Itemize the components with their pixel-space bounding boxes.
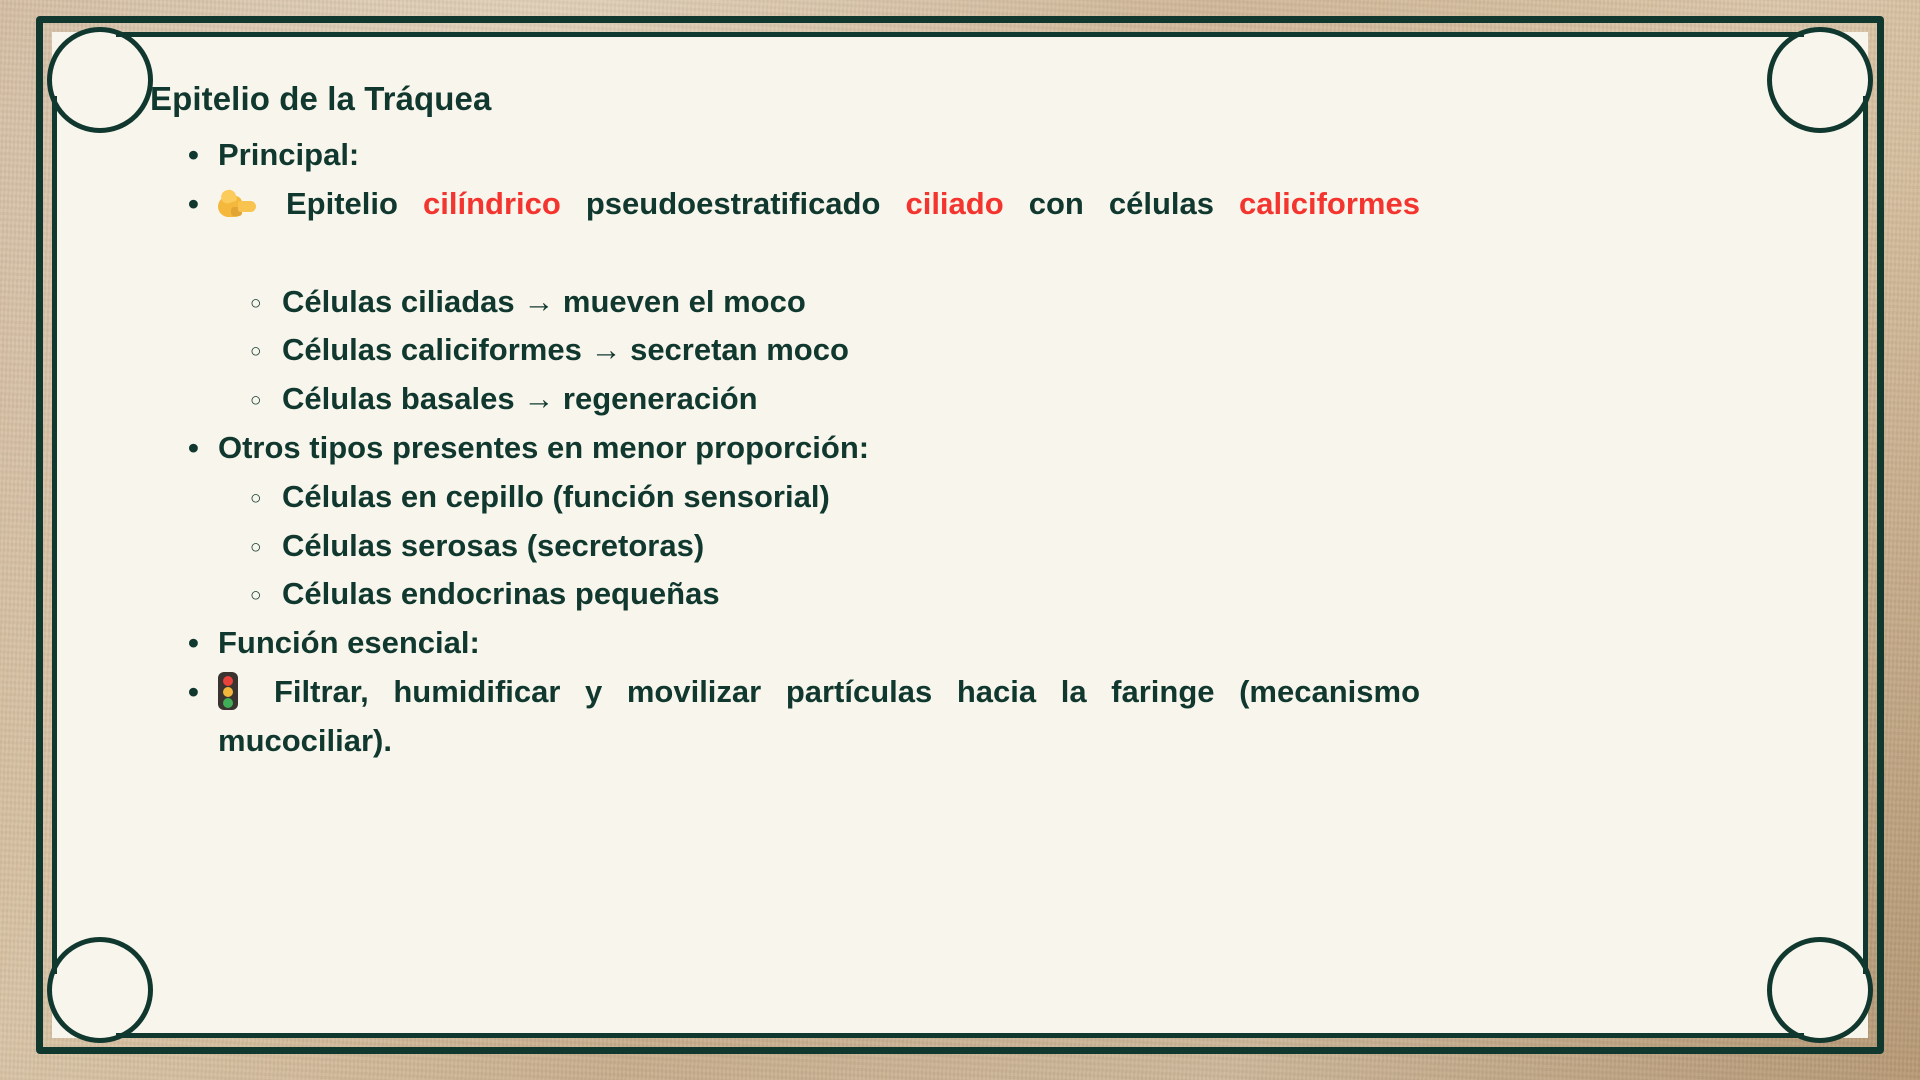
bullet-glyph: • (188, 131, 199, 179)
segment-con-celulas: con células (1004, 186, 1239, 221)
list-item-principal: • Principal: (150, 131, 1420, 179)
list-item-celulas-basales: ○ Células basales → regeneración (150, 375, 1420, 424)
outline-list-funcion: • Función esencial: • Filtrar, humidific… (150, 619, 1420, 813)
term-label: Células basales (282, 381, 515, 416)
sub-bullet-glyph: ○ (250, 327, 261, 376)
bullet-glyph: • (188, 619, 199, 667)
list-item-celulas-caliciformes: ○ Células caliciformes → secretan moco (150, 326, 1420, 375)
effect-label: mueven el moco (563, 284, 806, 319)
list-item-label: Principal: (218, 137, 359, 172)
slide-canvas: Epitelio de la Tráquea • Principal: • Ep… (0, 0, 1920, 1080)
segment-cilindrico: cilíndrico (423, 186, 561, 221)
list-item-celulas-endocrinas: ○ Células endocrinas pequeñas (150, 570, 1420, 619)
outline-sublist-otros: ○ Células en cepillo (función sensorial)… (150, 473, 1420, 619)
list-item-epitelio-descripcion: • Epitelio cilíndrico pseudoestratificad… (150, 180, 1420, 277)
list-item-label: Función esencial: (218, 625, 480, 660)
list-item-label: Células endocrinas pequeñas (282, 576, 720, 611)
list-item-label: Filtrar, humidificar y movilizar partícu… (218, 674, 1420, 757)
outline-sublist-principal: ○ Células ciliadas → mueven el moco ○ Cé… (150, 278, 1420, 424)
outline-list-otros: • Otros tipos presentes en menor proporc… (150, 424, 1420, 472)
sub-bullet-glyph: ○ (250, 376, 261, 425)
corner-bracket-top-right (1804, 32, 1868, 96)
corner-bracket-bottom-right (1804, 974, 1868, 1038)
list-item-funcion-descripcion: • Filtrar, humidificar y movilizar partí… (150, 668, 1420, 813)
slide-content: Epitelio de la Tráquea • Principal: • Ep… (150, 78, 1420, 814)
effect-label: regeneración (563, 381, 758, 416)
list-item-funcion-esencial: • Función esencial: (150, 619, 1420, 667)
list-item-label: Células en cepillo (función sensorial) (282, 479, 830, 514)
outline-list: • Principal: • Epitelio cilíndrico pseud… (150, 131, 1420, 277)
pointing-right-hand-icon (218, 190, 256, 220)
segment-epitelio: Epitelio (286, 186, 423, 221)
effect-label: secretan moco (630, 332, 849, 367)
corner-bracket-bottom-left (52, 974, 116, 1038)
sub-bullet-glyph: ○ (250, 474, 261, 523)
sub-bullet-glyph: ○ (250, 523, 261, 572)
bullet-glyph: • (188, 668, 199, 716)
bullet-glyph: • (188, 424, 199, 472)
segment-pseudoestratificado: pseudoestratificado (561, 186, 906, 221)
segment-ciliado: ciliado (905, 186, 1003, 221)
list-item-celulas-cepillo: ○ Células en cepillo (función sensorial) (150, 473, 1420, 522)
arrow-icon: → (590, 332, 621, 367)
segment-caliciformes: caliciformes (1239, 186, 1420, 221)
traffic-light-icon (218, 672, 238, 710)
bullet-glyph: • (188, 180, 199, 228)
list-item-celulas-serosas: ○ Células serosas (secretoras) (150, 522, 1420, 571)
arrow-icon: → (523, 284, 554, 319)
page-title: Epitelio de la Tráquea (150, 78, 1420, 120)
sub-bullet-glyph: ○ (250, 571, 261, 620)
list-item-celulas-ciliadas: ○ Células ciliadas → mueven el moco (150, 278, 1420, 327)
term-label: Células caliciformes (282, 332, 582, 367)
list-item-label: Células serosas (secretoras) (282, 528, 704, 563)
list-item-otros-tipos: • Otros tipos presentes en menor proporc… (150, 424, 1420, 472)
list-item-label: Otros tipos presentes en menor proporció… (218, 430, 869, 465)
term-label: Células ciliadas (282, 284, 515, 319)
arrow-icon: → (523, 381, 554, 416)
corner-bracket-top-left (52, 32, 116, 96)
sub-bullet-glyph: ○ (250, 279, 261, 328)
